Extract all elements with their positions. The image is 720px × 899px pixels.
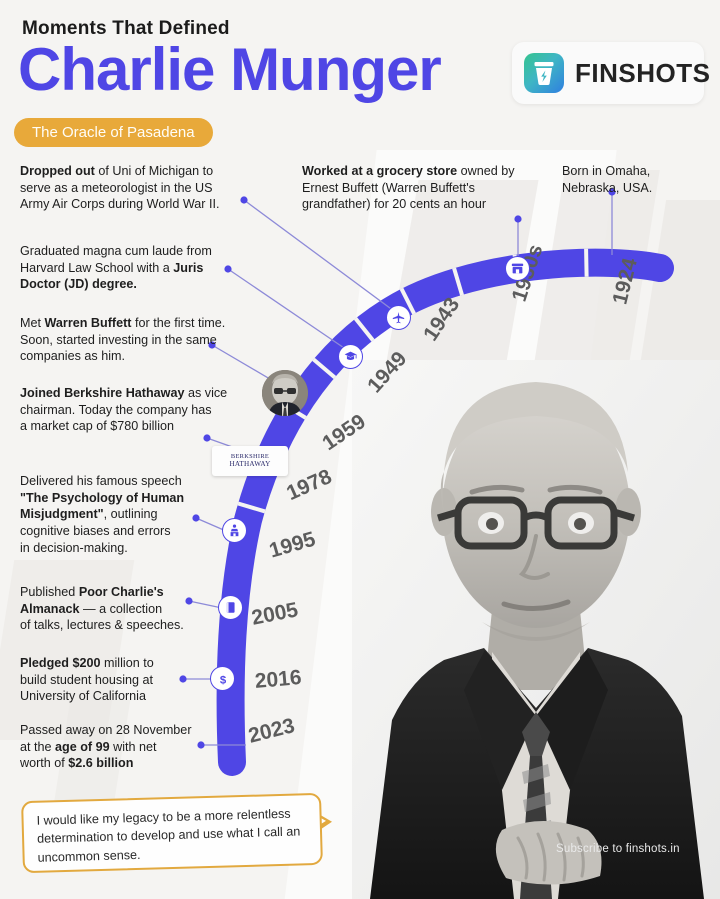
infographic-canvas: Moments That Defined Charlie Munger FINS… <box>0 0 720 899</box>
event-text-1978: Joined Berkshire Hathaway as vicechairma… <box>20 385 248 435</box>
svg-text:$: $ <box>219 674 226 686</box>
graduation-icon[interactable] <box>338 344 363 369</box>
quote-bubble: I would like my legacy to be a more rele… <box>21 793 323 873</box>
event-text-1930s: Worked at a grocery store owned byErnest… <box>302 163 554 213</box>
book-icon[interactable] <box>218 595 243 620</box>
event-text-2023: Passed away on 28 Novemberat the age of … <box>20 722 226 772</box>
event-text-1949: Graduated magna cum laude fromHarvard La… <box>20 243 246 293</box>
subscribe-label[interactable]: Subscribe to finshots.in <box>556 843 680 855</box>
munger-mini-portrait <box>262 370 308 416</box>
store-icon[interactable] <box>505 256 530 281</box>
plane-icon[interactable] <box>386 305 411 330</box>
event-text-1995: Delivered his famous speech"The Psycholo… <box>20 473 228 557</box>
berkshire-line2: HATHAWAY <box>229 461 270 469</box>
event-text-1959: Met Warren Buffett for the first time.So… <box>20 315 252 365</box>
event-text-1943: Dropped out of Uni of Michigan toserve a… <box>20 163 248 213</box>
event-text-2016: Pledged $200 million tobuild student hou… <box>20 655 218 705</box>
berkshire-logo-icon: BERKSHIRE HATHAWAY <box>212 446 288 476</box>
event-text-2005: Published Poor Charlie'sAlmanack — a col… <box>20 584 220 634</box>
event-text-1924: Born in Omaha,Nebraska, USA. <box>562 163 712 196</box>
year-label-2016: 2016 <box>254 666 303 694</box>
